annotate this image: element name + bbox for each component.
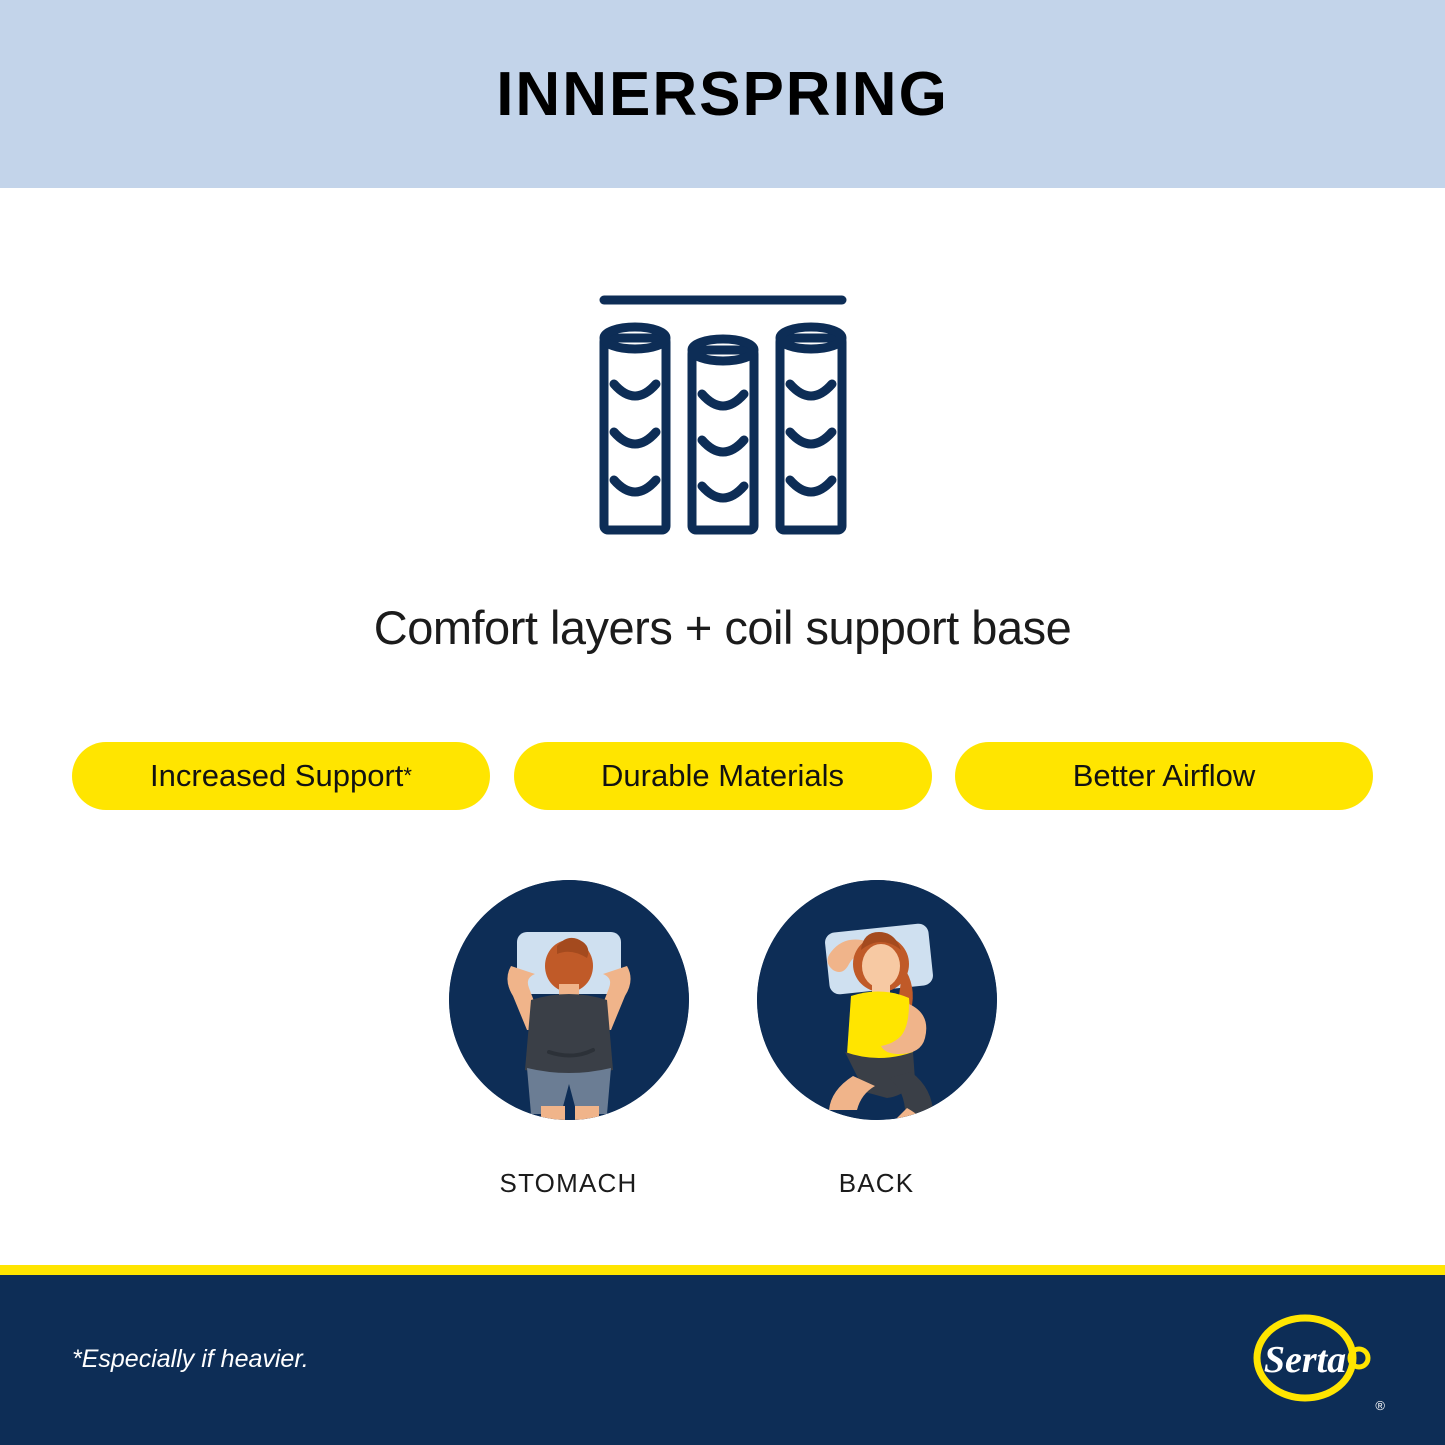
- sleep-position-label: BACK: [839, 1168, 915, 1199]
- feature-pill-label: Better Airflow: [1073, 758, 1256, 794]
- innerspring-coils-icon: [592, 276, 854, 538]
- registered-mark: ®: [1375, 1398, 1385, 1413]
- feature-pill-increased-support: Increased Support*: [72, 742, 490, 810]
- sleep-position-label: STOMACH: [500, 1168, 638, 1199]
- page-title: INNERSPRING: [496, 59, 949, 130]
- feature-pill-row: Increased Support* Durable Materials Bet…: [72, 742, 1373, 810]
- sleep-position-back: BACK: [757, 880, 997, 1199]
- sleep-position-stomach: STOMACH: [449, 880, 689, 1199]
- footnote: *Especially if heavier.: [72, 1345, 309, 1374]
- infographic-page: INNERSPRING: [0, 0, 1445, 1445]
- feature-pill-label: Increased Support: [150, 758, 403, 794]
- sleep-positions: STOMACH: [0, 880, 1445, 1199]
- subtitle: Comfort layers + coil support base: [0, 600, 1445, 655]
- serta-logo: Serta: [1253, 1310, 1373, 1410]
- feature-pill-better-airflow: Better Airflow: [955, 742, 1373, 810]
- sleeper-stomach-icon: [449, 880, 689, 1120]
- svg-text:Serta: Serta: [1264, 1339, 1346, 1381]
- footer-accent-rule: [0, 1265, 1445, 1275]
- sleeper-back-icon: [757, 880, 997, 1120]
- feature-pill-label: Durable Materials: [601, 758, 844, 794]
- header-band: INNERSPRING: [0, 0, 1445, 188]
- feature-pill-durable-materials: Durable Materials: [514, 742, 932, 810]
